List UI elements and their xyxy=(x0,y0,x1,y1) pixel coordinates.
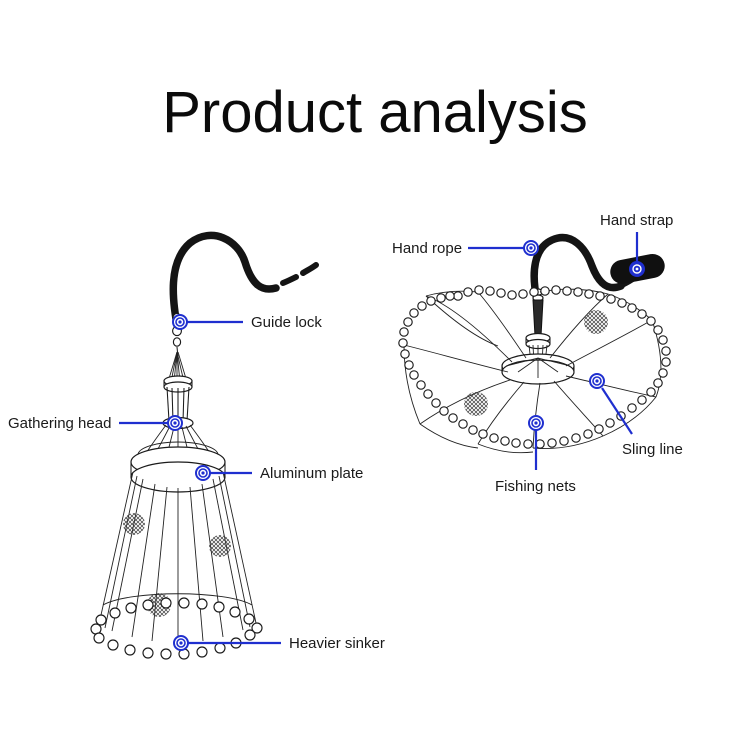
mesh-patch-left xyxy=(123,513,231,617)
target-marker-icon xyxy=(630,262,644,276)
label-heavier-sinker: Heavier sinker xyxy=(289,635,385,652)
target-marker-icon xyxy=(524,241,538,255)
callout-gathering-head[interactable]: Gathering head xyxy=(8,415,182,432)
aluminum-plate-ring-left xyxy=(131,447,225,492)
closed-net-illustration xyxy=(91,235,316,659)
callout-fishing-nets[interactable]: Fishing nets xyxy=(495,416,576,495)
target-marker-icon xyxy=(168,416,182,430)
target-marker-icon xyxy=(174,636,188,650)
callout-hand-rope[interactable]: Hand rope xyxy=(392,240,538,257)
target-marker-icon xyxy=(196,466,210,480)
label-fishing-nets: Fishing nets xyxy=(495,478,576,495)
callout-guide-lock[interactable]: Guide lock xyxy=(173,314,322,331)
net-cone-left xyxy=(99,472,256,643)
label-hand-strap: Hand strap xyxy=(600,212,673,229)
diagram-canvas: Product analysis xyxy=(0,0,750,750)
product-analysis-diagram: Guide lock Gathering head Aluminum plate xyxy=(0,0,750,750)
center-hub-right xyxy=(502,289,574,384)
target-marker-icon xyxy=(590,374,604,388)
label-gathering-head: Gathering head xyxy=(8,415,111,432)
target-marker-icon xyxy=(529,416,543,430)
sinker-chain-upper xyxy=(91,598,262,634)
target-marker-icon xyxy=(173,315,187,329)
label-hand-rope: Hand rope xyxy=(392,240,462,257)
label-sling-line: Sling line xyxy=(622,441,683,458)
label-aluminum-plate: Aluminum plate xyxy=(260,465,363,482)
label-guide-lock: Guide lock xyxy=(251,314,322,331)
